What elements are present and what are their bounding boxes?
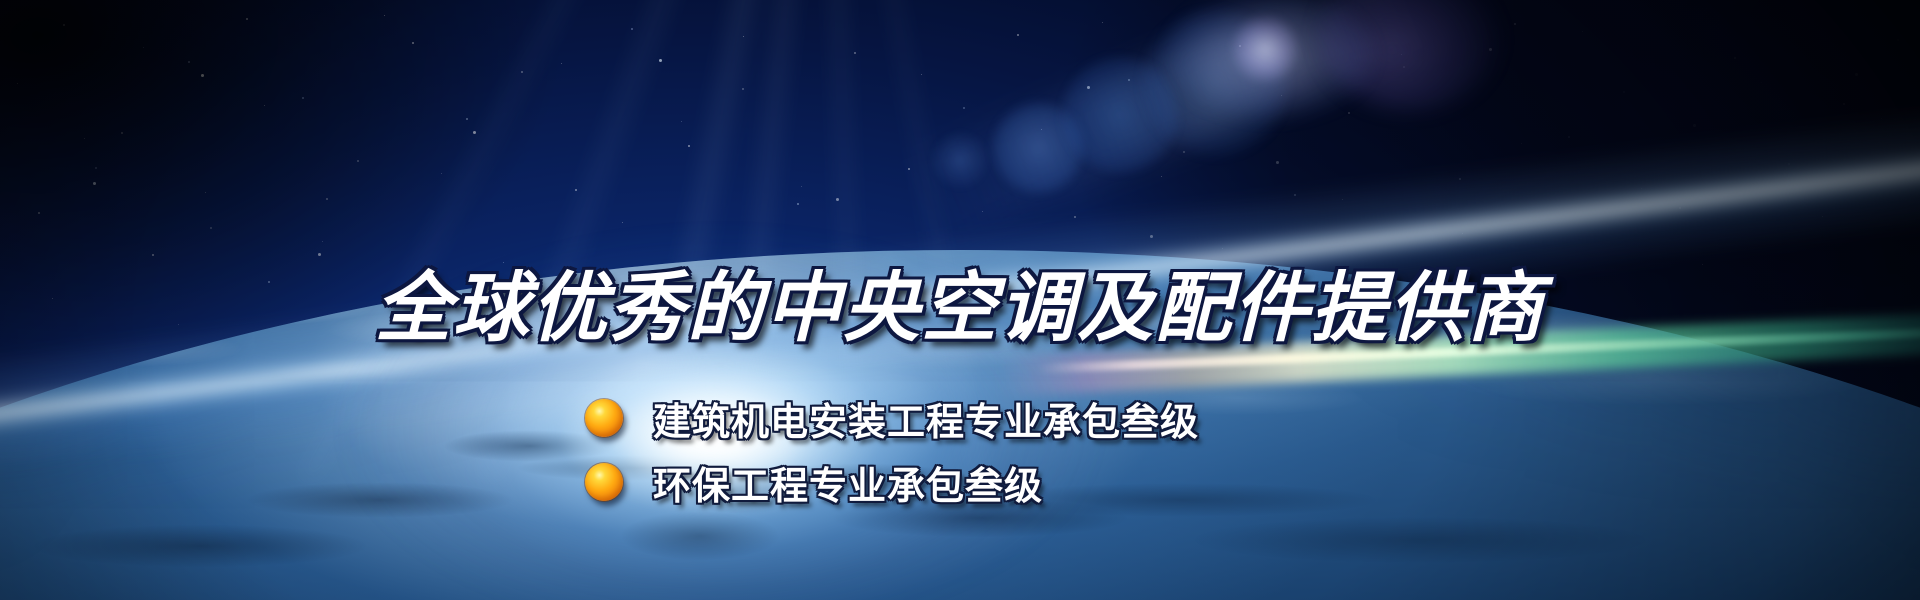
bullet-item-label: 环保工程专业承包叁级 [653, 455, 1043, 510]
banner-bullet-list: 建筑机电安装工程专业承包叁级 环保工程专业承包叁级 [585, 386, 1199, 514]
hero-banner: 全球优秀的中央空调及配件提供商 建筑机电安装工程专业承包叁级 环保工程专业承包叁… [0, 0, 1920, 600]
bullet-item: 环保工程专业承包叁级 [585, 450, 1199, 514]
banner-headline: 全球优秀的中央空调及配件提供商 [0, 246, 1920, 356]
bullet-item: 建筑机电安装工程专业承包叁级 [585, 386, 1199, 450]
orange-sphere-bullet-icon [585, 463, 623, 501]
orange-sphere-bullet-icon [585, 399, 623, 437]
bullet-item-label: 建筑机电安装工程专业承包叁级 [653, 391, 1199, 446]
banner-content: 全球优秀的中央空调及配件提供商 建筑机电安装工程专业承包叁级 环保工程专业承包叁… [0, 0, 1920, 600]
